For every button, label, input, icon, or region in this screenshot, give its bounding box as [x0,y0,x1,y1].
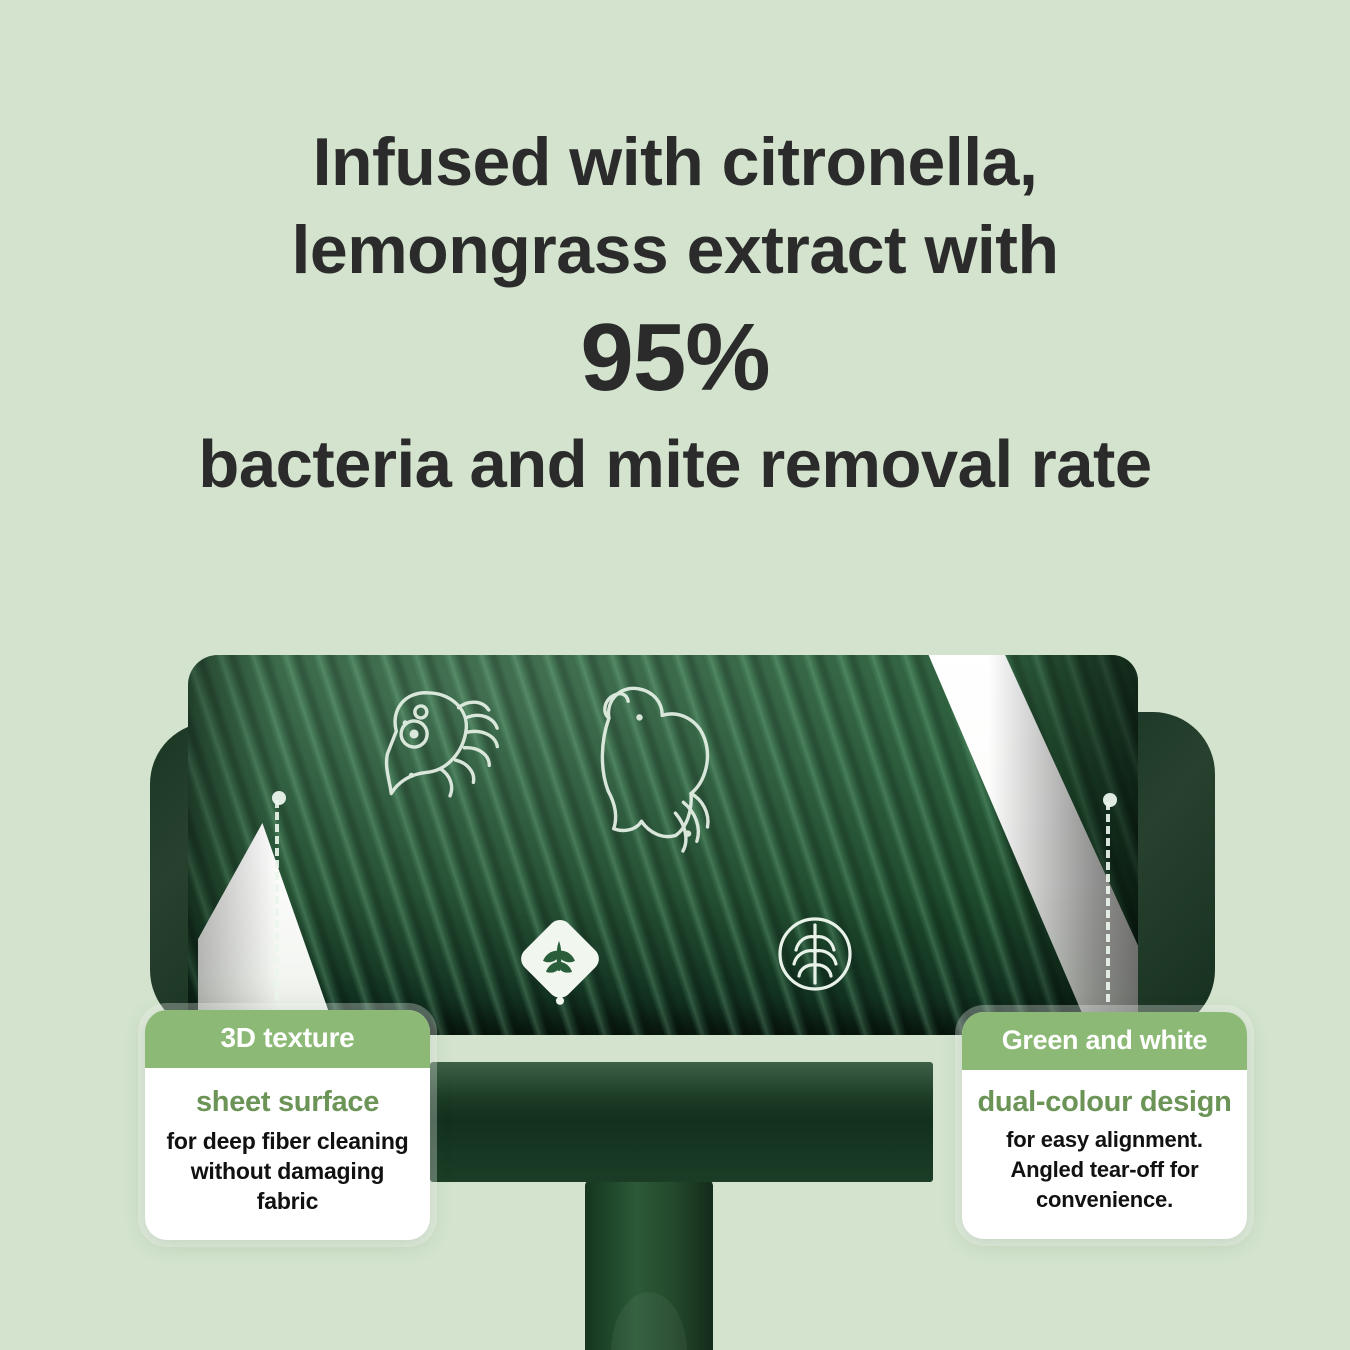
roller-sleeve [188,655,1138,1035]
perforation-line-left [275,800,279,1000]
feature-card-description: for deep fiber cleaning without damaging… [159,1126,416,1216]
paw-leaf-badge-icon [513,915,607,1009]
handle-stem [585,1180,713,1350]
feature-card-header: Green and white [962,1012,1247,1070]
feature-card-accent: dual-colour design [976,1086,1233,1119]
feature-card-header: 3D texture [145,1010,430,1068]
feature-card-body: dual-colour design for easy alignment. A… [962,1070,1247,1239]
lemongrass-circle-badge-icon [780,919,850,989]
feature-card-body: sheet surface for deep fiber cleaning wi… [145,1068,430,1240]
feature-card-3d-texture: 3D texture sheet surface for deep fiber … [145,1010,430,1240]
perforation-line-right [1106,802,1110,1002]
cat-line-art [583,684,729,855]
sleeve-artwork [188,655,1138,1035]
product-feature-banner: Infused with citronella, lemongrass extr… [0,0,1350,1350]
feature-card-description: for easy alignment. Angled tear-off for … [976,1125,1233,1215]
feature-card-green-and-white: Green and white dual-colour design for e… [962,1012,1247,1239]
handle-crossbar [430,1062,933,1182]
feature-card-accent: sheet surface [159,1084,416,1120]
dust-mite-line-art [380,686,506,813]
